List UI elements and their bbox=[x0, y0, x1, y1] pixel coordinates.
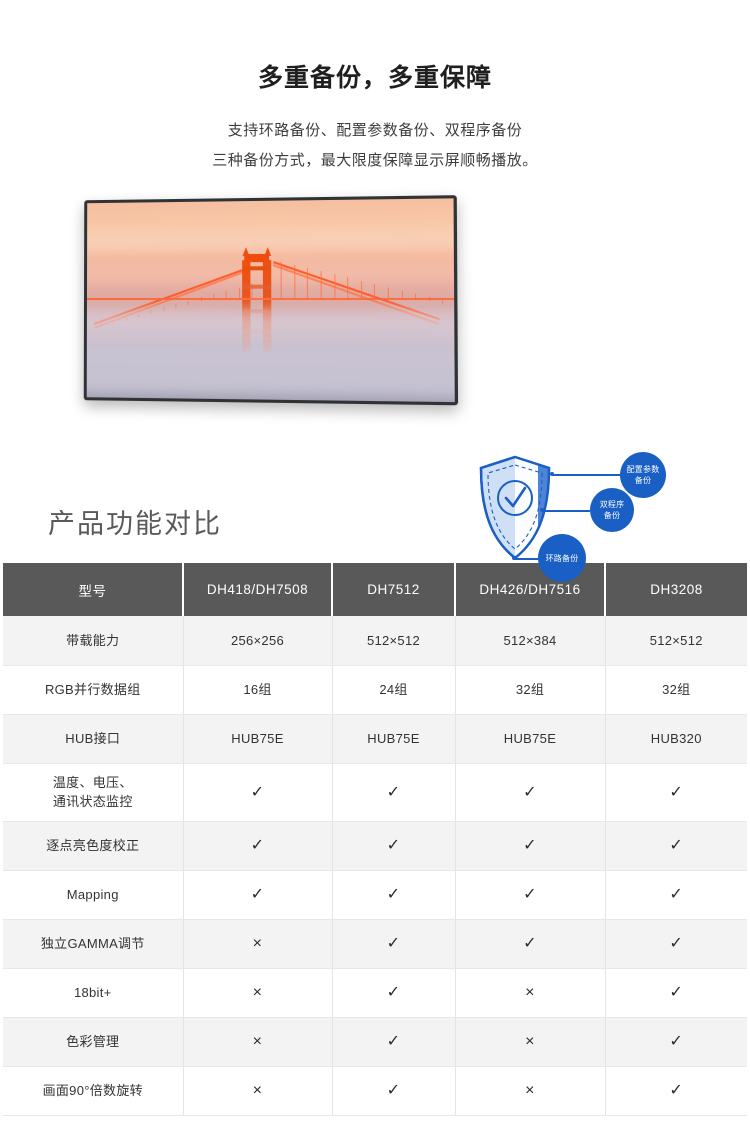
row-value: ✓ bbox=[332, 968, 455, 1017]
bubble-loop-backup: 环路备份 bbox=[538, 534, 586, 582]
table-row: 独立GAMMA调节×✓✓✓ bbox=[3, 919, 747, 968]
check-icon: ✓ bbox=[387, 1082, 401, 1099]
cross-icon: × bbox=[253, 935, 263, 952]
row-value: ✓ bbox=[605, 870, 747, 919]
row-value: ✓ bbox=[332, 919, 455, 968]
illustration-band: 配置参数 备份 双程序 备份 环路备份 bbox=[0, 194, 750, 444]
table-header-product-1: DH418/DH7508 bbox=[183, 563, 332, 616]
row-label: Mapping bbox=[3, 870, 183, 919]
row-value: ✓ bbox=[605, 821, 747, 870]
bubble-config-line-2: 备份 bbox=[635, 475, 651, 486]
row-value: 24组 bbox=[332, 665, 455, 714]
bridge-hanger bbox=[347, 278, 348, 300]
row-value: HUB75E bbox=[455, 714, 605, 763]
row-label: 逐点亮色度校正 bbox=[3, 821, 183, 870]
check-icon: ✓ bbox=[251, 784, 265, 801]
table-header-product-2: DH7512 bbox=[332, 563, 455, 616]
bridge-hanger bbox=[334, 275, 335, 300]
table-header-model: 型号 bbox=[3, 563, 183, 616]
row-value: HUB320 bbox=[605, 714, 747, 763]
connector-dot bbox=[512, 556, 516, 560]
fog-band bbox=[87, 343, 455, 399]
row-value: ✓ bbox=[455, 870, 605, 919]
connector-line bbox=[542, 510, 590, 512]
connector-line bbox=[552, 474, 620, 476]
bridge-hanger bbox=[175, 304, 176, 308]
row-value: × bbox=[455, 1017, 605, 1066]
table-row: HUB接口HUB75EHUB75EHUB75EHUB320 bbox=[3, 714, 747, 763]
check-icon: ✓ bbox=[387, 886, 401, 903]
cross-icon: × bbox=[525, 1033, 535, 1050]
check-icon: ✓ bbox=[523, 837, 537, 854]
row-value: 256×256 bbox=[183, 616, 332, 665]
row-value: ✓ bbox=[605, 919, 747, 968]
hero-subtitle-line-1: 支持环路备份、配置参数备份、双程序备份 bbox=[0, 116, 750, 146]
led-display-panel bbox=[84, 195, 458, 405]
row-value: ✓ bbox=[332, 821, 455, 870]
row-value: ✓ bbox=[605, 763, 747, 821]
check-icon: ✓ bbox=[251, 886, 265, 903]
row-value: HUB75E bbox=[183, 714, 332, 763]
table-row: 18bit+×✓×✓ bbox=[3, 968, 747, 1017]
bubble-loop-line-1: 环路备份 bbox=[546, 553, 579, 564]
comparison-table-wrapper: 型号DH418/DH7508DH7512DH426/DH7516DH3208 带… bbox=[3, 563, 747, 1116]
hero-subtitle-line-2: 三种备份方式，最大限度保障显示屏顺畅播放。 bbox=[0, 146, 750, 176]
bridge-hanger bbox=[294, 265, 295, 300]
table-row: 带载能力256×256512×512512×384512×512 bbox=[3, 616, 747, 665]
led-screen-image bbox=[87, 198, 455, 402]
bridge-deck bbox=[87, 298, 454, 300]
row-value: × bbox=[455, 968, 605, 1017]
table-row: 色彩管理×✓×✓ bbox=[3, 1017, 747, 1066]
check-icon: ✓ bbox=[669, 1033, 683, 1050]
row-value: × bbox=[183, 1017, 332, 1066]
row-value: × bbox=[455, 1066, 605, 1115]
tower-crossbar bbox=[243, 285, 270, 289]
table-body: 带载能力256×256512×512512×384512×512RGB并行数据组… bbox=[3, 616, 747, 1115]
connector-dot bbox=[550, 472, 554, 476]
row-label: 独立GAMMA调节 bbox=[3, 919, 183, 968]
cross-icon: × bbox=[253, 1082, 263, 1099]
check-icon: ✓ bbox=[669, 784, 683, 801]
fog-band bbox=[87, 310, 455, 347]
row-value: ✓ bbox=[455, 821, 605, 870]
backup-diagram: 配置参数 备份 双程序 备份 环路备份 bbox=[468, 442, 708, 587]
bridge-hanger bbox=[226, 291, 227, 298]
table-row: 温度、电压、 通讯状态监控✓✓✓✓ bbox=[3, 763, 747, 821]
table-row: 逐点亮色度校正✓✓✓✓ bbox=[3, 821, 747, 870]
row-value: ✓ bbox=[332, 870, 455, 919]
cross-icon: × bbox=[253, 1033, 263, 1050]
row-value: 16组 bbox=[183, 665, 332, 714]
row-value: ✓ bbox=[605, 968, 747, 1017]
bridge-hanger bbox=[281, 262, 282, 300]
row-value: ✓ bbox=[183, 870, 332, 919]
check-icon: ✓ bbox=[523, 886, 537, 903]
bubble-dual-program-backup: 双程序 备份 bbox=[590, 488, 634, 532]
row-label: 带载能力 bbox=[3, 616, 183, 665]
check-icon: ✓ bbox=[387, 984, 401, 1001]
row-value: 512×512 bbox=[605, 616, 747, 665]
bubble-config-line-1: 配置参数 bbox=[627, 464, 660, 475]
row-label: RGB并行数据组 bbox=[3, 665, 183, 714]
check-icon: ✓ bbox=[669, 886, 683, 903]
row-label: 温度、电压、 通讯状态监控 bbox=[3, 763, 183, 821]
row-value: ✓ bbox=[183, 763, 332, 821]
cross-icon: × bbox=[253, 984, 263, 1001]
row-value: ✓ bbox=[605, 1066, 747, 1115]
check-icon: ✓ bbox=[523, 784, 537, 801]
row-value: ✓ bbox=[332, 1017, 455, 1066]
check-icon: ✓ bbox=[669, 984, 683, 1001]
row-value: ✓ bbox=[605, 1017, 747, 1066]
bridge-hanger bbox=[307, 268, 308, 300]
check-icon: ✓ bbox=[669, 837, 683, 854]
hero-subtitle: 支持环路备份、配置参数备份、双程序备份 三种备份方式，最大限度保障显示屏顺畅播放… bbox=[0, 116, 750, 176]
row-value: ✓ bbox=[183, 821, 332, 870]
row-label: 色彩管理 bbox=[3, 1017, 183, 1066]
check-icon: ✓ bbox=[251, 837, 265, 854]
cross-icon: × bbox=[525, 984, 535, 1001]
page-title: 多重备份，多重保障 bbox=[0, 58, 750, 94]
bubble-dual-line-1: 双程序 bbox=[600, 499, 625, 510]
row-label: 画面90°倍数旋转 bbox=[3, 1066, 183, 1115]
row-value: HUB75E bbox=[332, 714, 455, 763]
row-value: 32组 bbox=[455, 665, 605, 714]
row-value: × bbox=[183, 1066, 332, 1115]
check-icon: ✓ bbox=[387, 837, 401, 854]
row-label: HUB接口 bbox=[3, 714, 183, 763]
row-label: 18bit+ bbox=[3, 968, 183, 1017]
row-value: × bbox=[183, 968, 332, 1017]
row-value: ✓ bbox=[455, 919, 605, 968]
connector-line bbox=[514, 558, 538, 560]
bridge-hanger bbox=[239, 287, 240, 298]
hero-section: 多重备份，多重保障 支持环路备份、配置参数备份、双程序备份 三种备份方式，最大限… bbox=[0, 0, 750, 176]
row-value: 32组 bbox=[605, 665, 747, 714]
row-value: ✓ bbox=[332, 1066, 455, 1115]
row-value: × bbox=[183, 919, 332, 968]
row-value: ✓ bbox=[455, 763, 605, 821]
check-icon: ✓ bbox=[387, 935, 401, 952]
product-comparison-table: 型号DH418/DH7508DH7512DH426/DH7516DH3208 带… bbox=[3, 563, 747, 1116]
check-icon: ✓ bbox=[669, 1082, 683, 1099]
table-row: RGB并行数据组16组24组32组32组 bbox=[3, 665, 747, 714]
bubble-config-backup: 配置参数 备份 bbox=[620, 452, 666, 498]
table-row: Mapping✓✓✓✓ bbox=[3, 870, 747, 919]
check-icon: ✓ bbox=[523, 935, 537, 952]
check-icon: ✓ bbox=[387, 1033, 401, 1050]
connector-dot bbox=[540, 508, 544, 512]
bridge-hanger bbox=[443, 300, 444, 304]
row-value: 512×512 bbox=[332, 616, 455, 665]
row-value: ✓ bbox=[332, 763, 455, 821]
table-row: 画面90°倍数旋转×✓×✓ bbox=[3, 1066, 747, 1115]
bridge-hanger bbox=[320, 271, 321, 300]
check-icon: ✓ bbox=[387, 784, 401, 801]
tower-crossbar bbox=[243, 267, 270, 271]
cross-icon: × bbox=[525, 1082, 535, 1099]
row-value: 512×384 bbox=[455, 616, 605, 665]
bubble-dual-line-2: 备份 bbox=[604, 510, 620, 521]
check-icon: ✓ bbox=[669, 935, 683, 952]
bridge-hanger bbox=[188, 301, 189, 305]
